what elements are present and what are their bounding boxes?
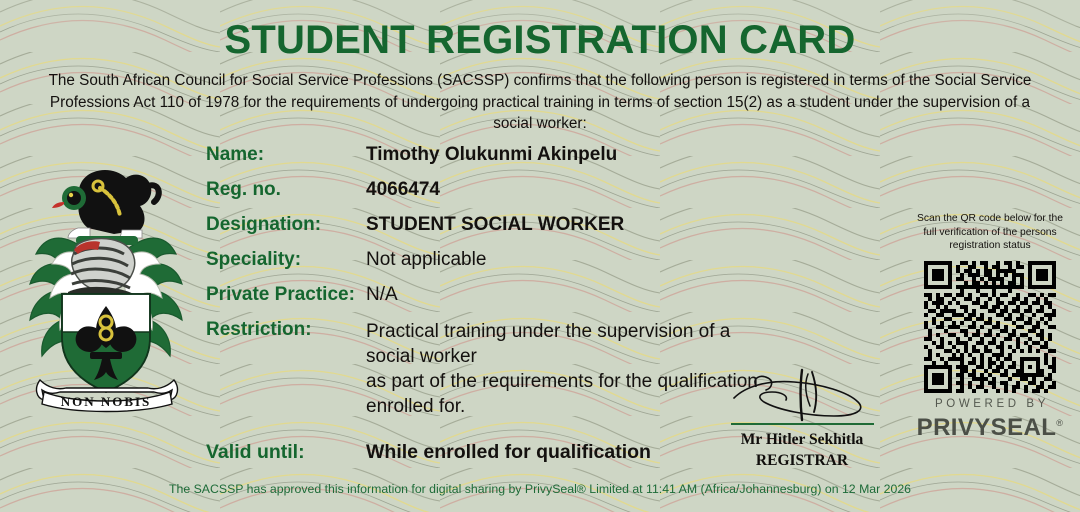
powered-by-label: POWERED BY: [900, 398, 1080, 410]
qr-verification-panel: Scan the QR code below for the full veri…: [900, 212, 1080, 441]
student-registration-card: STUDENT REGISTRATION CARD The South Afri…: [0, 0, 1080, 512]
approval-footer: The SACSSP has approved this information…: [0, 482, 1080, 496]
field-value-reg-no: 4066474: [366, 179, 440, 201]
field-value-name: Timothy Olukunmi Akinpelu: [366, 144, 617, 166]
qr-code[interactable]: [924, 261, 1056, 393]
helm: [68, 239, 135, 302]
field-value-private-practice: N/A: [366, 284, 398, 306]
crest-lion: [52, 170, 159, 238]
registered-mark: ®: [1056, 418, 1063, 428]
field-row-valid-until: Valid until: While enrolled for qualific…: [206, 441, 766, 463]
field-label-speciality: Speciality:: [206, 249, 366, 271]
field-value-designation: STUDENT SOCIAL WORKER: [366, 214, 624, 236]
registrar-signature: [716, 368, 888, 423]
field-value-valid-until: While enrolled for qualification: [366, 441, 651, 463]
field-row-private-practice: Private Practice: N/A: [206, 284, 766, 306]
shield: [62, 294, 150, 392]
field-label-designation: Designation:: [206, 214, 366, 236]
field-value-speciality: Not applicable: [366, 249, 486, 271]
field-row-restriction: Restriction: Practical training under th…: [206, 319, 766, 419]
registrar-role: REGISTRAR: [716, 450, 888, 471]
field-row-speciality: Speciality: Not applicable: [206, 249, 766, 271]
motto-text: NON NOBIS: [61, 394, 152, 409]
registrar-name: Mr Hitler Sekhitla: [716, 429, 888, 450]
field-label-reg-no: Reg. no.: [206, 179, 366, 201]
field-row-name: Name: Timothy Olukunmi Akinpelu: [206, 144, 766, 166]
registration-statement: The South African Council for Social Ser…: [30, 70, 1050, 135]
field-row-reg-no: Reg. no. 4066474: [206, 179, 766, 201]
sacssp-coat-of-arms-emblem: NON NOBIS: [14, 142, 198, 414]
privyseal-wordmark: PRIVYSEAL: [917, 414, 1057, 441]
signature-block: Mr Hitler Sekhitla REGISTRAR: [716, 368, 888, 471]
field-value-restriction: Practical training under the supervision…: [366, 319, 766, 419]
field-label-restriction: Restriction:: [206, 319, 366, 341]
field-label-name: Name:: [206, 144, 366, 166]
signature-rule: [731, 423, 874, 425]
field-label-private-practice: Private Practice:: [206, 284, 366, 306]
registration-fields: Name: Timothy Olukunmi Akinpelu Reg. no.…: [206, 144, 766, 476]
field-label-valid-until: Valid until:: [206, 441, 366, 463]
qr-instruction-text: Scan the QR code below for the full veri…: [910, 212, 1070, 253]
page-title: STUDENT REGISTRATION CARD: [0, 18, 1080, 63]
field-row-designation: Designation: STUDENT SOCIAL WORKER: [206, 214, 766, 236]
privyseal-brand: PRIVYSEAL®: [900, 410, 1080, 441]
